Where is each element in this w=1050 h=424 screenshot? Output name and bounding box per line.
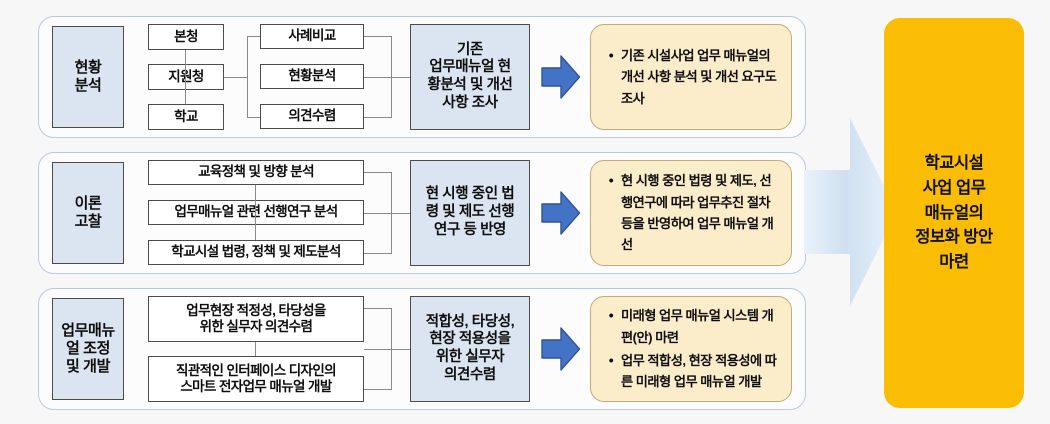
connector-row3-merge-bottom [364,389,392,390]
bullet-icon: • [601,170,621,192]
connector-row2-merge-spine [391,172,392,253]
stage-box-row1: 현황 분석 [52,26,124,128]
connector-row3-tasks-spine [255,342,256,356]
task-box-row1-2: 의견수렴 [260,104,364,129]
right-arrow-icon-row3 [541,326,581,372]
connector-row2-merge-bottom [364,253,392,254]
outcome-list-row3: • 미래형 업무 매뉴얼 시스템 개편(안) 마련 • 업무 적합성, 현장 적… [601,305,777,393]
connector-row1-sources-spine [185,50,186,104]
connector-row3-merge-spine [391,308,392,389]
outcome-item-row3-0: • 미래형 업무 매뉴얼 시스템 개편(안) 마련 [601,305,777,348]
method-box-row2: 현 시행 중인 법 령 및 제도 선행 연구 등 반영 [410,160,530,266]
task-box-row1-1: 현황분석 [260,64,364,89]
connector-row1-merge-bottom [364,117,392,118]
task-box-row2-0: 교육정책 및 방향 분석 [148,160,364,185]
connector-row1-fan-bottom [247,117,261,118]
outcome-list-row2: • 현 시행 중인 법령 및 제도, 선행연구에 따라 업무추진 절차 등을 반… [601,170,777,256]
connector-row2-tasks-spine [255,185,256,240]
connector-row1-source-out [224,77,248,78]
flowchart-canvas: 현황 분석 본청 지원청 학교 사례비교 현황분석 의견수렴 기존 업무매뉴얼 … [0,0,1050,424]
task-box-row3-1: 직관적인 인터페이스 디자인의 스마트 전자업무 매뉴얼 개발 [148,356,364,402]
connector-row2-merge-top [364,172,392,173]
source-box-row1-2: 학교 [148,104,224,130]
outcome-panel-row3: • 미래형 업무 매뉴얼 시스템 개편(안) 마련 • 업무 적합성, 현장 적… [590,296,792,402]
connector-row1-merge-mid [364,77,410,78]
connector-row1-merge-spine [391,36,392,117]
outcome-list-row1: • 기존 시설사업 업무 매뉴얼의 개선 사항 분석 및 개선 요구도 조사 [601,45,777,109]
source-box-row1-0: 본청 [148,24,224,50]
right-arrow-icon-row2 [541,190,581,236]
bullet-icon: • [601,305,621,327]
method-box-row1: 기존 업무매뉴얼 현 황분석 및 개선 사항 조사 [410,24,530,130]
outcome-panel-row2: • 현 시행 중인 법령 및 제도, 선행연구에 따라 업무추진 절차 등을 반… [590,160,792,266]
outcome-item-row1-0: • 기존 시설사업 업무 매뉴얼의 개선 사항 분석 및 개선 요구도 조사 [601,45,777,109]
connector-row3-merge-top [364,308,392,309]
stage-box-row3: 업무매뉴 얼 조정 및 개발 [52,298,124,400]
outcome-panel-row1: • 기존 시설사업 업무 매뉴얼의 개선 사항 분석 및 개선 요구도 조사 [590,24,792,130]
task-box-row3-0: 업무현장 적정성, 타당성을 위한 실무자 의견수렴 [148,296,364,342]
method-box-row3: 적합성, 타당성, 현장 적용성을 위한 실무자 의견수렴 [410,296,530,402]
task-box-row2-2: 학교시설 법령, 정책 및 제도분석 [148,240,364,265]
stage-box-row2: 이론 고찰 [52,162,124,264]
task-box-row1-0: 사례비교 [260,24,364,49]
connector-row3-merge-mid [364,349,410,350]
connector-row1-fan-spine [247,36,248,117]
final-outcome-panel: 학교시설 사업 업무 매뉴얼의 정보화 방안 마련 [884,18,1024,408]
right-arrow-icon-row1 [541,54,581,100]
bullet-icon: • [601,350,621,372]
bullet-icon: • [601,45,621,67]
connector-row1-merge-top [364,36,392,37]
outcome-item-row3-1: • 업무 적합성, 현장 적용성에 따른 미래형 업무 매뉴얼 개발 [601,350,777,393]
connector-row1-fan-top [247,36,261,37]
connector-row2-merge-mid [364,213,410,214]
outcome-item-row2-0: • 현 시행 중인 법령 및 제도, 선행연구에 따라 업무추진 절차 등을 반… [601,170,777,256]
